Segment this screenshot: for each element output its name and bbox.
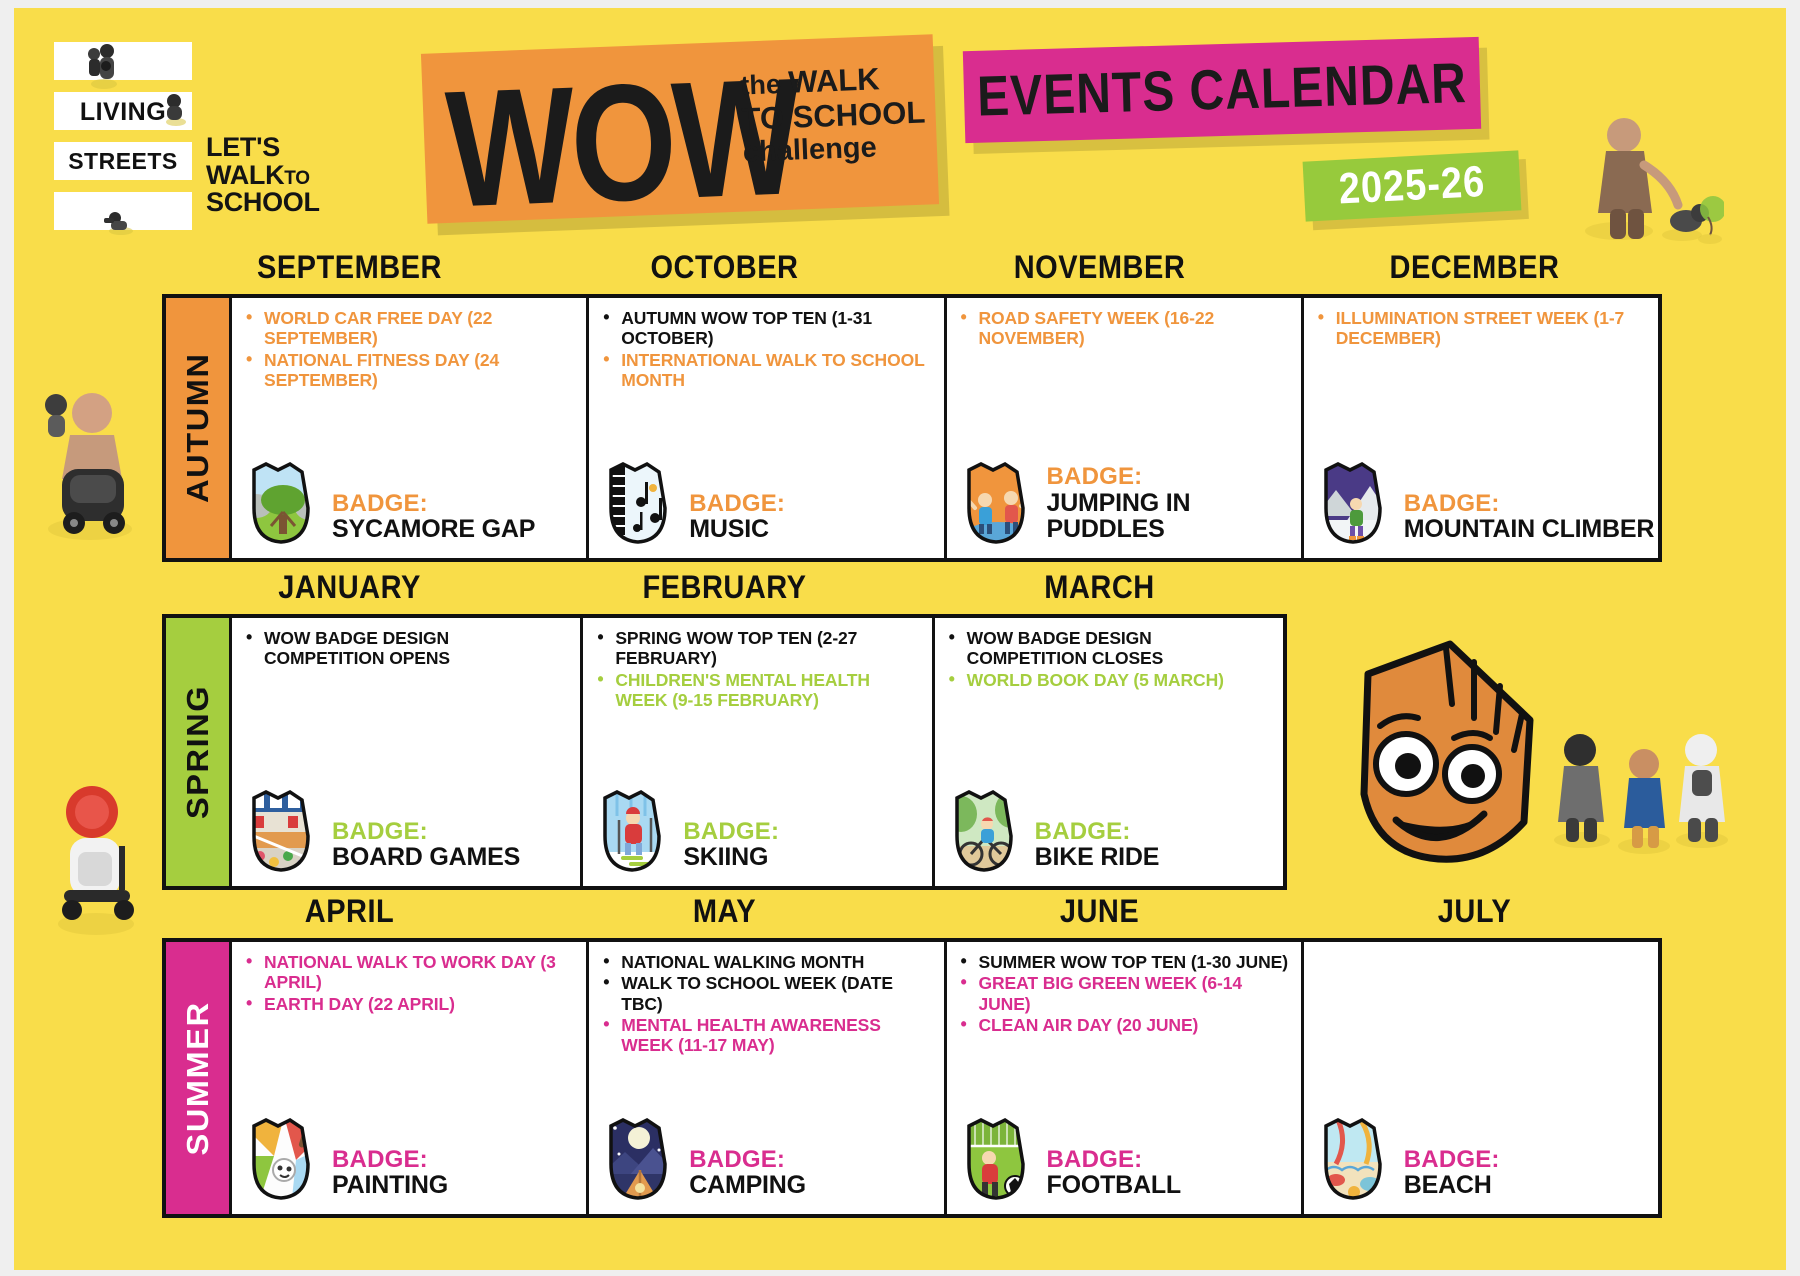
badge-label-december: BADGE: MOUNTAIN CLIMBER (1404, 491, 1654, 548)
events-calendar-banner: EVENTS CALENDAR (963, 37, 1481, 143)
tagline-line-1: LET'S (206, 134, 336, 162)
badge-jumping-in-puddles-icon (959, 456, 1037, 548)
living-streets-logo: LIVING STREETS LET'S WALKTO SCHOOL (54, 30, 344, 240)
wow-subtitle: the WALK TO SCHOOL challenge (740, 60, 934, 169)
badge-label-january: BADGE: BOARD GAMES (332, 819, 520, 876)
walker-with-dog-illustration (1574, 113, 1724, 248)
event-list-november: ROAD SAFETY WEEK (16-22 NOVEMBER) (959, 308, 1289, 349)
list-item: NATIONAL FITNESS DAY (24 SEPTEMBER) (244, 350, 574, 391)
badge-label-november: BADGE: JUMPING IN PUDDLES (1047, 464, 1301, 548)
badge-music-icon (601, 456, 679, 548)
badge-name: SYCAMORE GAP (332, 516, 535, 542)
pedestrian-icon (84, 44, 120, 90)
month-header-june: JUNE (912, 894, 1287, 931)
month-cell-february[interactable]: SPRING WOW TOP TEN (2-27 FEBRUARY) CHILD… (583, 618, 934, 886)
group-of-walkers-illustration (1544, 728, 1734, 858)
month-header-december: DECEMBER (1287, 250, 1662, 287)
season-tab-spring: SPRING (166, 618, 232, 886)
month-cell-march[interactable]: WOW BADGE DESIGN COMPETITION CLOSES WORL… (935, 618, 1283, 886)
badge-beach-icon (1316, 1112, 1394, 1204)
poster-canvas: LIVING STREETS LET'S WALKTO SCHOOL WOW t… (14, 8, 1786, 1270)
list-item: INTERNATIONAL WALK TO SCHOOL MONTH (601, 350, 931, 391)
list-item: ILLUMINATION STREET WEEK (1-7 DECEMBER) (1316, 308, 1646, 349)
badge-word: BADGE: (689, 491, 785, 516)
year-label: 2025-26 (1338, 157, 1487, 214)
badge-name: MOUNTAIN CLIMBER (1404, 516, 1654, 542)
month-header-january: JANUARY (162, 570, 537, 607)
badge-block-april: BADGE: PAINTING (244, 1112, 448, 1204)
badge-name: FOOTBALL (1047, 1172, 1181, 1198)
badge-sycamore-gap-icon (244, 456, 322, 548)
month-header-march: MARCH (912, 570, 1287, 607)
pedestrian-icon (102, 208, 136, 236)
month-header-row-summer: APRIL MAY JUNE JULY (162, 896, 1662, 929)
list-item: ROAD SAFETY WEEK (16-22 NOVEMBER) (959, 308, 1289, 349)
badge-name: BIKE RIDE (1035, 844, 1160, 870)
lets-walk-to-school-tagline: LET'S WALKTO SCHOOL (206, 134, 336, 217)
badge-skiing-icon (595, 784, 673, 876)
badge-painting-icon (244, 1112, 322, 1204)
badge-name: JUMPING IN PUDDLES (1047, 490, 1301, 543)
season-tab-summer: SUMMER (166, 942, 232, 1214)
badge-name: CAMPING (689, 1172, 806, 1198)
badge-name: MUSIC (689, 516, 785, 542)
month-cell-december[interactable]: ILLUMINATION STREET WEEK (1-7 DECEMBER) (1304, 298, 1658, 558)
badge-block-june: BADGE: FOOTBALL (959, 1112, 1181, 1204)
badge-block-july: BADGE: BEACH (1316, 1112, 1500, 1204)
month-cell-january[interactable]: WOW BADGE DESIGN COMPETITION OPENS (232, 618, 583, 886)
badge-block-march: BADGE: BIKE RIDE (947, 784, 1160, 876)
list-item: WALK TO SCHOOL WEEK (DATE TBC) (601, 973, 931, 1014)
events-calendar-title: EVENTS CALENDAR (976, 51, 1467, 130)
child-on-scooter-illustration (44, 778, 149, 938)
year-badge: 2025-26 (1303, 150, 1522, 221)
month-header-july: JULY (1287, 894, 1662, 931)
tagline-line-3: SCHOOL (206, 189, 336, 217)
list-item: NATIONAL WALKING MONTH (601, 952, 931, 972)
pedestrian-icon (162, 92, 188, 126)
list-item: WORLD BOOK DAY (5 MARCH) (947, 670, 1271, 690)
badge-block-may: BADGE: CAMPING (601, 1112, 806, 1204)
event-list-april: NATIONAL WALK TO WORK DAY (3 APRIL) EART… (244, 952, 574, 1014)
badge-block-september: BADGE: SYCAMORE GAP (244, 456, 535, 548)
month-cell-april[interactable]: NATIONAL WALK TO WORK DAY (3 APRIL) EART… (232, 942, 589, 1214)
badge-word: BADGE: (1404, 1147, 1500, 1172)
list-item: GREAT BIG GREEN WEEK (6-14 JUNE) (959, 973, 1289, 1014)
month-header-row-spring: JANUARY FEBRUARY MARCH (162, 572, 1287, 605)
month-cell-october[interactable]: AUTUMN WOW TOP TEN (1-31 OCTOBER) INTERN… (589, 298, 946, 558)
month-header-november: NOVEMBER (912, 250, 1287, 287)
badge-label-may: BADGE: CAMPING (689, 1147, 806, 1204)
event-list-january: WOW BADGE DESIGN COMPETITION OPENS (244, 628, 568, 669)
badge-word: BADGE: (1047, 1147, 1181, 1172)
list-item: AUTUMN WOW TOP TEN (1-31 OCTOBER) (601, 308, 931, 349)
badge-word: BADGE: (683, 819, 779, 844)
badge-word: BADGE: (332, 819, 520, 844)
badge-label-april: BADGE: PAINTING (332, 1147, 448, 1204)
season-label-spring: SPRING (180, 685, 216, 819)
badge-block-december: BADGE: MOUNTAIN CLIMBER (1316, 456, 1654, 548)
badge-name: BOARD GAMES (332, 844, 520, 870)
event-list-may: NATIONAL WALKING MONTH WALK TO SCHOOL WE… (601, 952, 931, 1055)
calendar-row-summer: SUMMER NATIONAL WALK TO WORK DAY (3 APRI… (162, 938, 1662, 1218)
badge-label-october: BADGE: MUSIC (689, 491, 785, 548)
list-item: NATIONAL WALK TO WORK DAY (3 APRIL) (244, 952, 574, 993)
month-cell-september[interactable]: WORLD CAR FREE DAY (22 SEPTEMBER) NATION… (232, 298, 589, 558)
list-item: CHILDREN'S MENTAL HEALTH WEEK (9-15 FEBR… (595, 670, 919, 711)
walker-with-pram-illustration (32, 383, 152, 543)
badge-label-september: BADGE: SYCAMORE GAP (332, 491, 535, 548)
month-header-april: APRIL (162, 894, 537, 931)
month-cell-june[interactable]: SUMMER WOW TOP TEN (1-30 JUNE) GREAT BIG… (947, 942, 1304, 1214)
month-header-february: FEBRUARY (537, 570, 912, 607)
badge-label-july: BADGE: BEACH (1404, 1147, 1500, 1204)
wow-subtitle-line-3: challenge (742, 130, 933, 170)
season-tab-autumn: AUTUMN (166, 298, 232, 558)
badge-block-january: BADGE: BOARD GAMES (244, 784, 520, 876)
badge-label-february: BADGE: SKIING (683, 819, 779, 876)
badge-word: BADGE: (1035, 819, 1160, 844)
list-item: SUMMER WOW TOP TEN (1-30 JUNE) (959, 952, 1289, 972)
season-label-summer: SUMMER (180, 1001, 216, 1155)
badge-name: BEACH (1404, 1172, 1500, 1198)
month-cell-may[interactable]: NATIONAL WALKING MONTH WALK TO SCHOOL WE… (589, 942, 946, 1214)
month-header-row-autumn: SEPTEMBER OCTOBER NOVEMBER DECEMBER (162, 252, 1662, 285)
list-item: EARTH DAY (22 APRIL) (244, 994, 574, 1014)
list-item: WOW BADGE DESIGN COMPETITION CLOSES (947, 628, 1271, 669)
badge-word: BADGE: (332, 491, 535, 516)
logo-line-streets: STREETS (54, 148, 192, 175)
badge-football-icon (959, 1112, 1037, 1204)
calendar-row-spring: SPRING WOW BADGE DESIGN COMPETITION OPEN… (162, 614, 1287, 890)
month-header-september: SEPTEMBER (162, 250, 537, 287)
list-item: WOW BADGE DESIGN COMPETITION OPENS (244, 628, 568, 669)
list-item: MENTAL HEALTH AWARENESS WEEK (11-17 MAY) (601, 1015, 931, 1056)
badge-block-november: BADGE: JUMPING IN PUDDLES (959, 456, 1301, 548)
badge-board-games-icon (244, 784, 322, 876)
event-list-march: WOW BADGE DESIGN COMPETITION CLOSES WORL… (947, 628, 1271, 690)
badge-camping-icon (601, 1112, 679, 1204)
event-list-october: AUTUMN WOW TOP TEN (1-31 OCTOBER) INTERN… (601, 308, 931, 390)
badge-name: SKIING (683, 844, 779, 870)
event-list-february: SPRING WOW TOP TEN (2-27 FEBRUARY) CHILD… (595, 628, 919, 710)
month-cell-november[interactable]: ROAD SAFETY WEEK (16-22 NOVEMBER) (947, 298, 1304, 558)
list-item: WORLD CAR FREE DAY (22 SEPTEMBER) (244, 308, 574, 349)
month-header-october: OCTOBER (537, 250, 912, 287)
badge-bike-ride-icon (947, 784, 1025, 876)
event-list-december: ILLUMINATION STREET WEEK (1-7 DECEMBER) (1316, 308, 1646, 349)
badge-block-october: BADGE: MUSIC (601, 456, 785, 548)
badge-word: BADGE: (689, 1147, 806, 1172)
calendar-row-autumn: AUTUMN WORLD CAR FREE DAY (22 SEPTEMBER)… (162, 294, 1662, 562)
badge-block-february: BADGE: SKIING (595, 784, 779, 876)
month-cell-july[interactable]: BADGE: BEACH (1304, 942, 1658, 1214)
month-header-may: MAY (537, 894, 912, 931)
event-list-september: WORLD CAR FREE DAY (22 SEPTEMBER) NATION… (244, 308, 574, 390)
event-list-june: SUMMER WOW TOP TEN (1-30 JUNE) GREAT BIG… (959, 952, 1289, 1035)
zebra-stripe (54, 42, 192, 80)
list-item: SPRING WOW TOP TEN (2-27 FEBRUARY) (595, 628, 919, 669)
tagline-line-2: WALKTO (206, 162, 336, 190)
badge-name: PAINTING (332, 1172, 448, 1198)
wow-logo-banner: WOW the WALK TO SCHOOL challenge (421, 34, 939, 224)
season-label-autumn: AUTUMN (180, 353, 216, 503)
list-item: CLEAN AIR DAY (20 JUNE) (959, 1015, 1289, 1035)
badge-word: BADGE: (1404, 491, 1654, 516)
mascot-footprint-character (1334, 608, 1544, 878)
badge-word: BADGE: (1047, 464, 1301, 489)
badge-label-june: BADGE: FOOTBALL (1047, 1147, 1181, 1204)
badge-label-march: BADGE: BIKE RIDE (1035, 819, 1160, 876)
badge-word: BADGE: (332, 1147, 448, 1172)
badge-mountain-climber-icon (1316, 456, 1394, 548)
